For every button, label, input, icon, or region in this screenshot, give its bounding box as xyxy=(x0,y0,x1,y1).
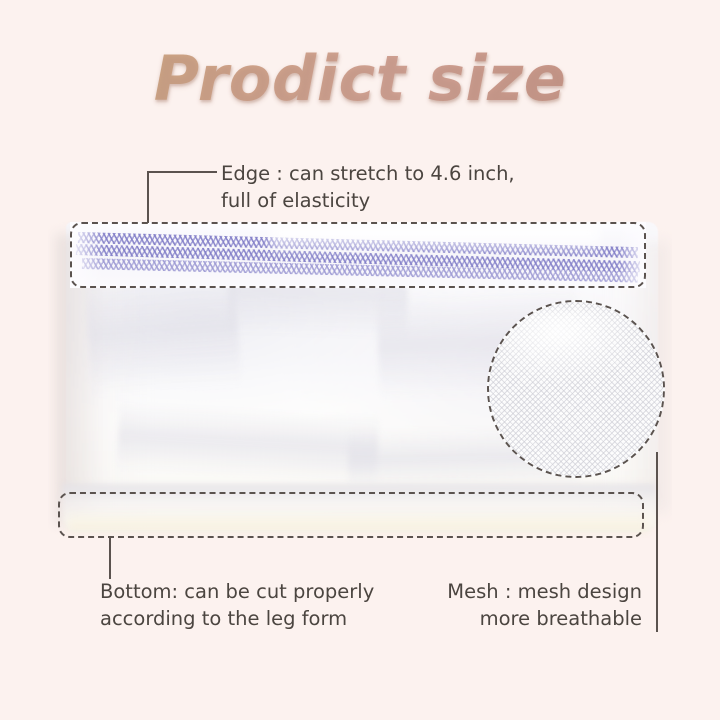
callout-box-bottom xyxy=(58,492,644,538)
callout-box-edge xyxy=(70,222,646,288)
callout-label-edge: Edge : can stretch to 4.6 inch, full of … xyxy=(221,160,561,214)
product-size-infographic: Prodict size Edge : can stretch to 4.6 i… xyxy=(0,0,720,720)
leader-line-mesh xyxy=(656,452,658,632)
mesh-zoom-circle xyxy=(487,300,665,478)
leader-line-edge-vertical xyxy=(147,171,149,223)
leader-line-bottom xyxy=(109,537,111,579)
page-title: Prodict size xyxy=(0,48,720,110)
leader-line-edge-horizontal xyxy=(147,171,217,173)
mesh-highlight xyxy=(499,308,649,388)
fabric-fold xyxy=(116,401,379,485)
callout-label-bottom: Bottom: can be cut properly according to… xyxy=(100,578,430,632)
callout-label-mesh: Mesh : mesh design more breathable xyxy=(420,578,642,632)
